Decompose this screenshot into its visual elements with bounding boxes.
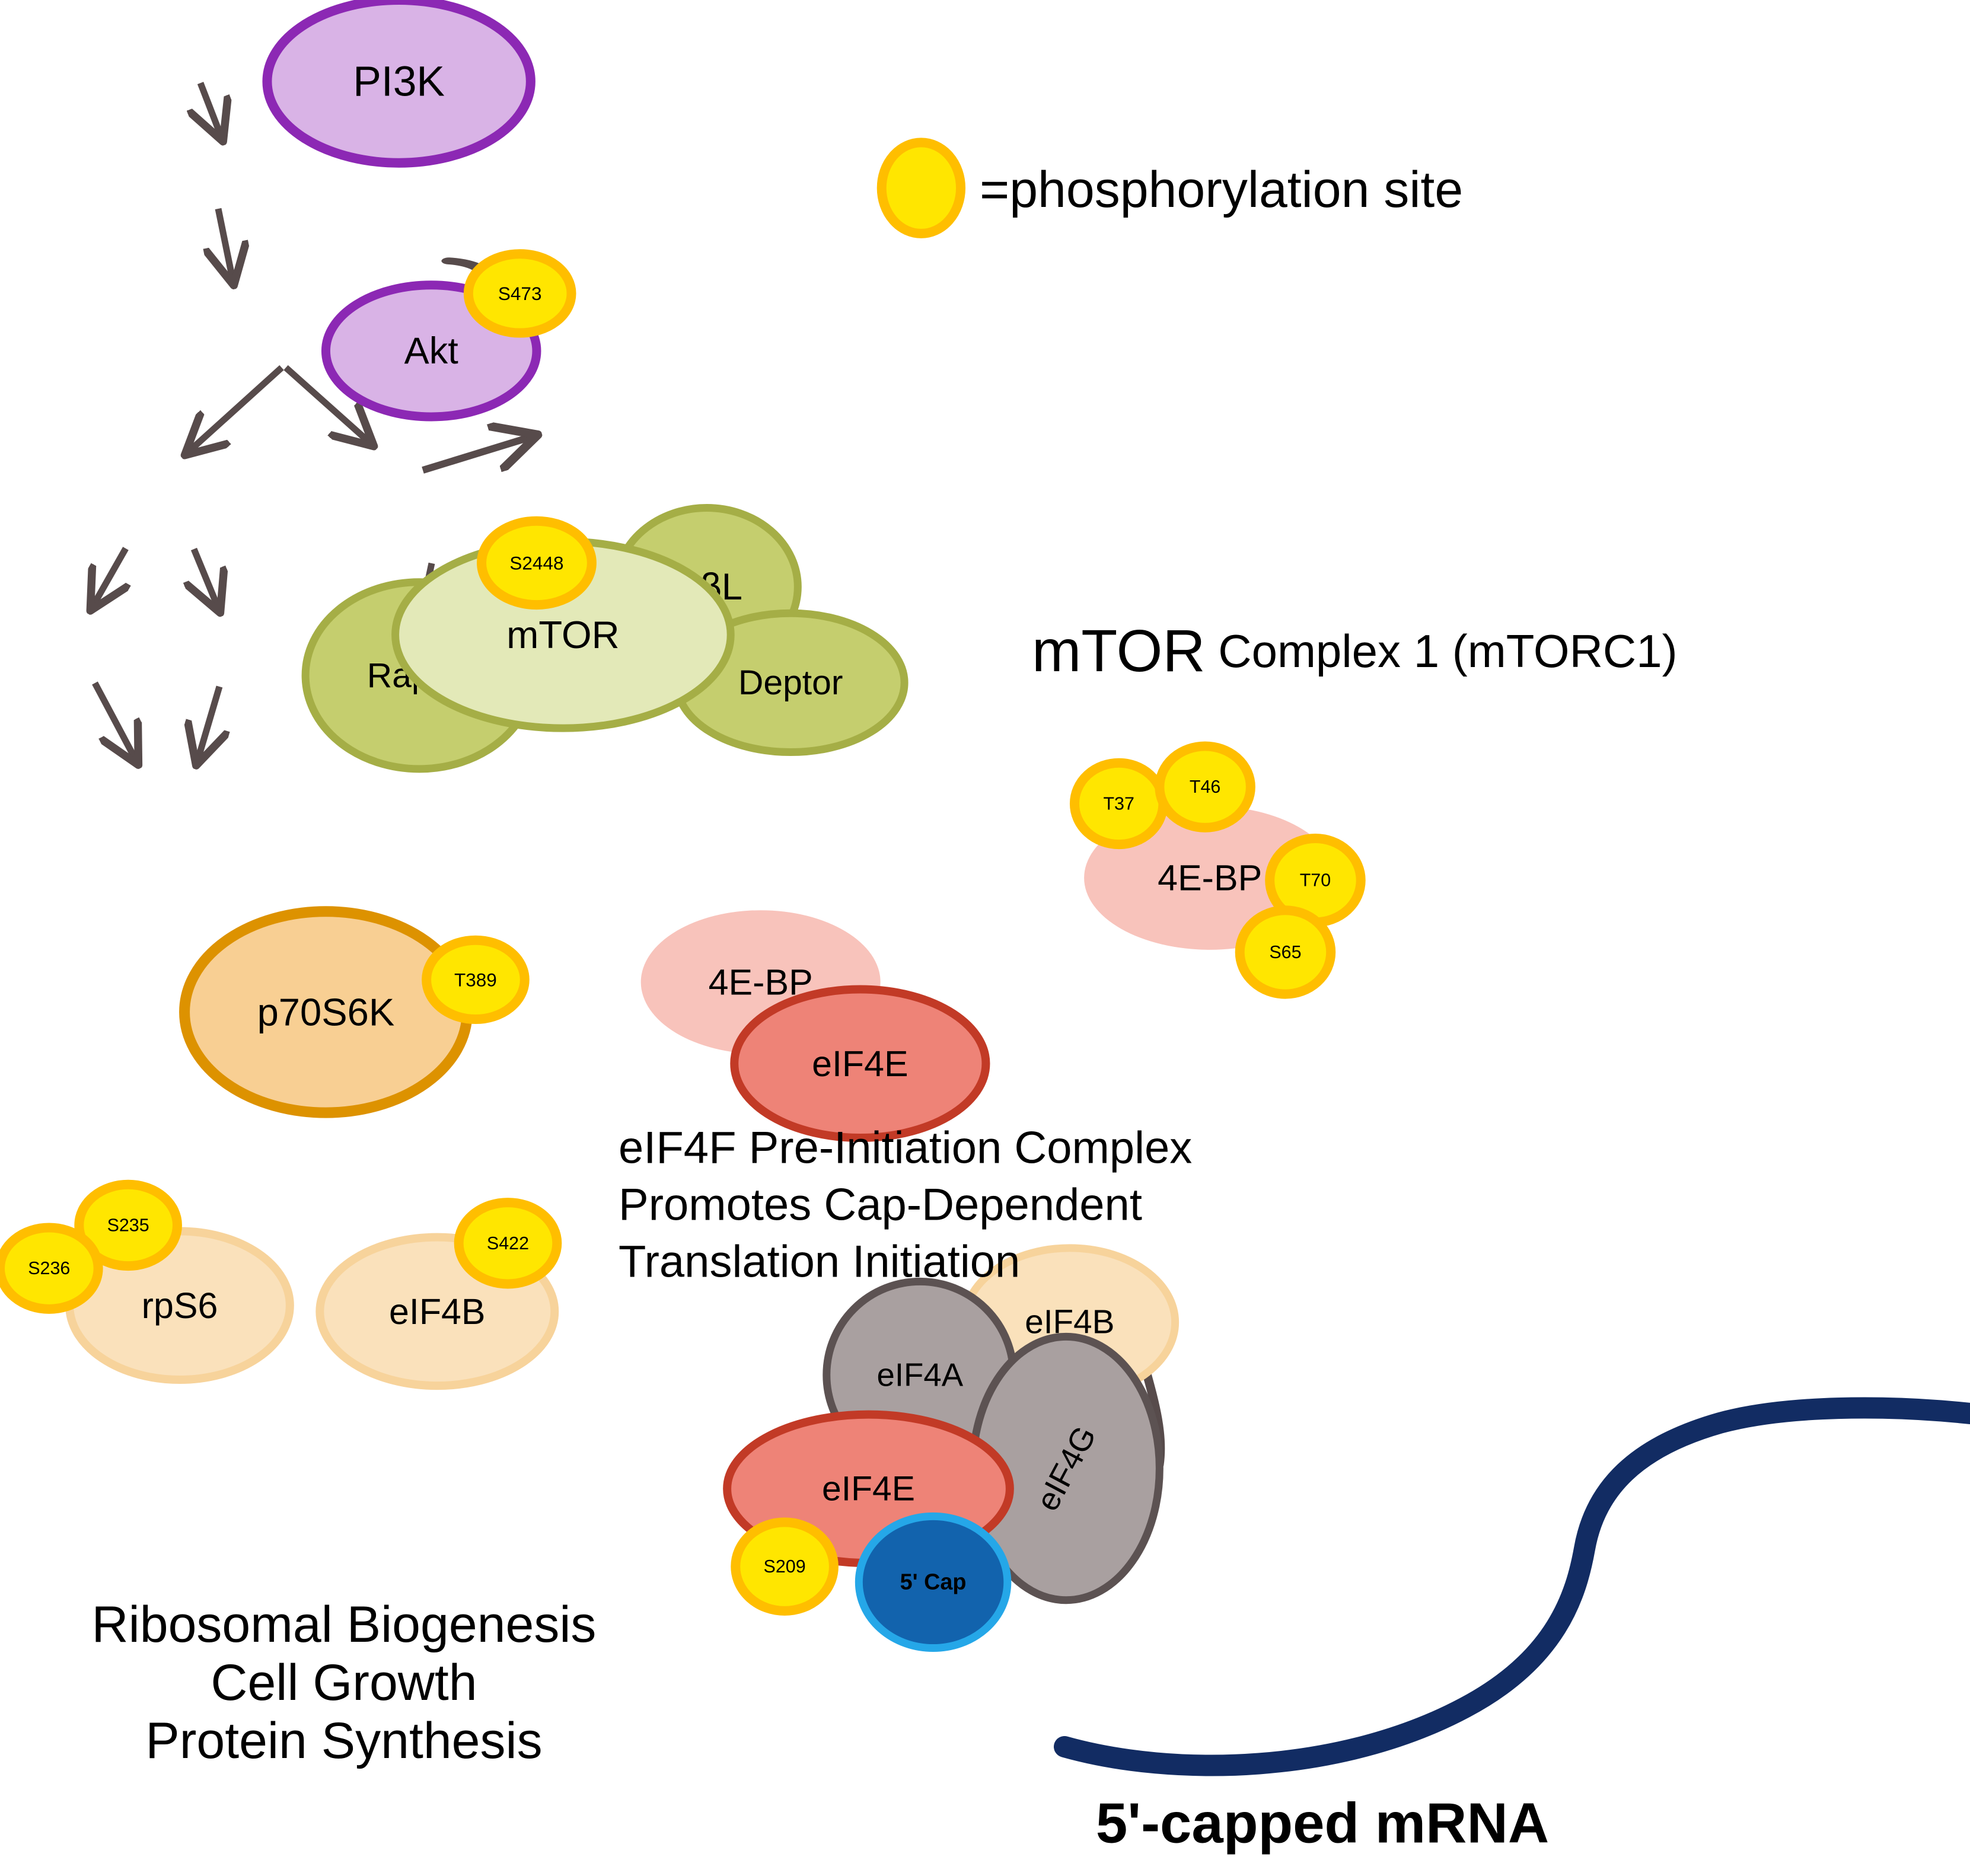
arrow-rps6-to-outputs <box>95 683 135 759</box>
node-label-pi3k: PI3K <box>353 58 445 105</box>
phospho-label-s422: S422 <box>487 1233 529 1253</box>
node-label-rps6: rpS6 <box>142 1285 218 1326</box>
node-label-eif4b_l: eIF4B <box>389 1291 486 1332</box>
phospho-label-s65: S65 <box>1269 942 1301 962</box>
node-label-mtor: mTOR <box>506 613 620 656</box>
text-mtorc1_primary: mTOR Complex 1 (mTORC1) <box>1032 618 1678 684</box>
text-out_line3: Protein Synthesis <box>145 1712 542 1769</box>
phospho-site-legend[interactable] <box>882 142 961 234</box>
phospho-marker-legend <box>882 142 961 234</box>
node-label-cap: 5' Cap <box>900 1569 967 1594</box>
phospho-label-s2448: S2448 <box>509 552 563 573</box>
text-mrna_label: 5'-capped mRNA <box>1096 1792 1549 1855</box>
node-eif4e_m[interactable]: eIF4E <box>734 990 986 1138</box>
node-p70s6k[interactable]: p70S6K <box>184 911 467 1112</box>
phospho-label-s473: S473 <box>498 283 542 304</box>
phospho-site-s65[interactable]: S65 <box>1240 910 1331 994</box>
node-label-deptor: Deptor <box>738 663 843 702</box>
phospho-site-s422[interactable]: S422 <box>459 1202 557 1284</box>
arrow-4ebp-to-phospho-4ebp <box>423 437 531 470</box>
node-label-ebp_ph: 4E-BP <box>1158 858 1262 898</box>
phospho-label-s209: S209 <box>764 1556 806 1577</box>
arrow-p70s6k-to-rps6 <box>94 548 126 605</box>
phospho-site-t389[interactable]: T389 <box>426 940 525 1019</box>
text-eif4f_line1: eIF4F Pre-Initiation Complex <box>619 1123 1192 1173</box>
mrna-strand <box>1064 1408 1970 1766</box>
pathway-svg: RaptorGβLDeptormTOR4E-BP4E-BPeIF4EeIF4Be… <box>0 0 1970 1876</box>
arrow-eif4b-to-outputs <box>198 687 219 759</box>
phospho-site-t46[interactable]: T46 <box>1159 746 1251 827</box>
phospho-site-s209[interactable]: S209 <box>735 1522 834 1610</box>
phospho-label-t389: T389 <box>454 969 497 990</box>
phospho-label-t46: T46 <box>1190 777 1220 797</box>
phospho-label-t70: T70 <box>1300 870 1331 891</box>
node-label-eif4e_c: eIF4E <box>822 1469 915 1508</box>
phospho-label-t37: T37 <box>1103 793 1134 813</box>
node-label-eif4a: eIF4A <box>877 1357 964 1393</box>
phospho-label-s236: S236 <box>28 1258 70 1278</box>
node-pi3k[interactable]: PI3K <box>267 0 530 163</box>
phospho-site-t37[interactable]: T37 <box>1075 763 1163 844</box>
phospho-site-s473[interactable]: S473 <box>468 254 572 333</box>
phospho-label-s235: S235 <box>107 1215 149 1235</box>
arrow-akt-to-mtor <box>218 209 232 279</box>
text-legend_text: =phosphorylation site <box>980 161 1463 218</box>
mtorc1-primary-span: mTOR <box>1032 618 1206 684</box>
arrow-p70s6k-to-eif4b <box>194 549 218 607</box>
text-eif4f_line3: Translation Initiation <box>619 1237 1020 1287</box>
text-out_line2: Cell Growth <box>211 1654 477 1711</box>
node-label-akt: Akt <box>404 330 459 372</box>
arrow-pi3k-to-akt <box>200 83 221 135</box>
text-out_line1: Ribosomal Biogenesis <box>92 1596 597 1653</box>
node-label-eif4e_m: eIF4E <box>812 1044 909 1084</box>
node-label-p70s6k: p70S6K <box>257 990 395 1033</box>
mtorc1-secondary-span: Complex 1 (mTORC1) <box>1206 625 1678 677</box>
phospho-site-s2448[interactable]: S2448 <box>482 521 592 605</box>
phospho-site-s236[interactable]: S236 <box>0 1228 98 1309</box>
arrow-mtor-to-p70s6k <box>190 368 282 451</box>
mrna-layer <box>1064 1408 1970 1766</box>
node-cap[interactable]: 5' Cap <box>859 1516 1007 1648</box>
text-eif4f_line2: Promotes Cap-Dependent <box>619 1180 1142 1230</box>
diagram-canvas: RaptorGβLDeptormTOR4E-BP4E-BPeIF4EeIF4Be… <box>0 0 1970 1876</box>
